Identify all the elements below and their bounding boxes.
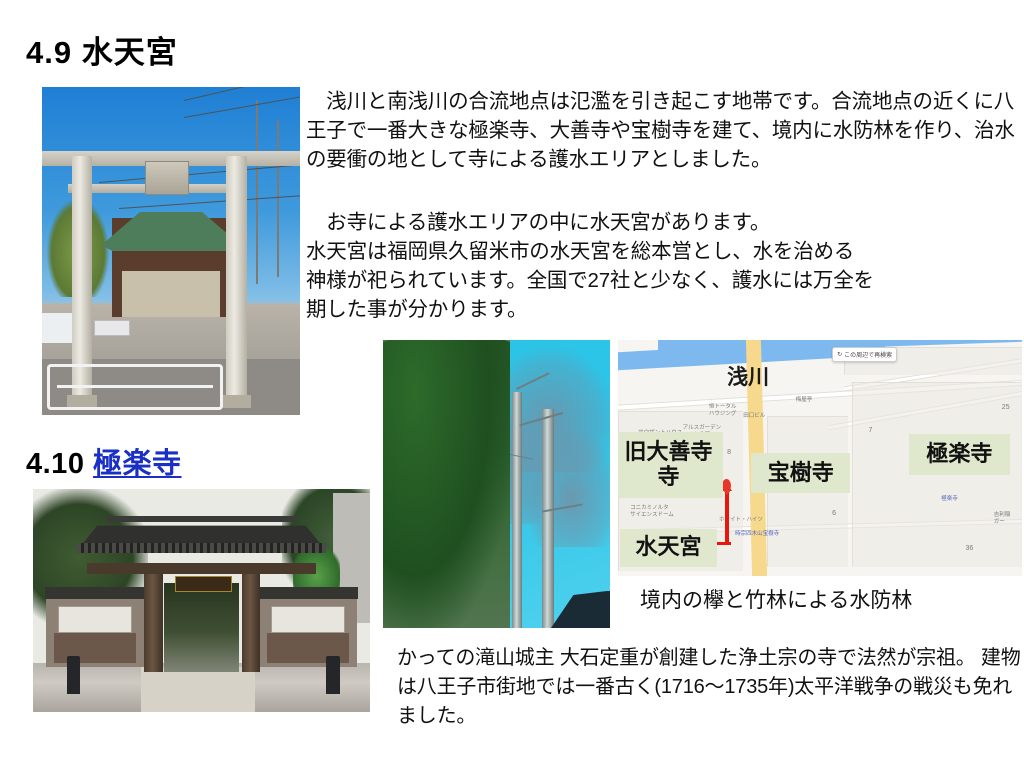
map-poi-label: 田口ビル — [743, 413, 765, 420]
wall-roof-left — [45, 587, 147, 598]
page-title-section-4-10: 4.10 極楽寺 — [26, 440, 182, 482]
wall-roof-right — [257, 587, 359, 598]
map-poi-label: 時宗四木山宝樹寺 — [735, 531, 779, 538]
map-poi-label: 6 — [832, 510, 836, 519]
research-button-label: この周辺で再検索 — [844, 350, 892, 359]
paragraph-suitengu-intro: 浅川と南浅川の合流地点は氾濫を引き起こす地帯です。合流地点の近くに八王子で一番大… — [306, 87, 1018, 174]
map-label-suitengu: 水天宮 — [620, 529, 717, 567]
bamboo-grove — [383, 340, 510, 628]
map-poi-label: 25 — [1002, 404, 1010, 413]
zelkova-trunk — [512, 392, 522, 628]
section-number: 4.10 — [26, 448, 93, 480]
gate-roof-ridge — [107, 516, 296, 523]
suitengu-torii-photo — [42, 87, 300, 415]
paragraph-gokurakuji-detail: かっての滝山城主 大石定重が創建した浄土宗の寺で法然が宗祖。 建物は八王子市街地… — [397, 644, 1022, 731]
torii-base-right — [220, 395, 251, 408]
map-building-blocks — [852, 382, 1022, 566]
refresh-icon: ↻ — [837, 351, 842, 358]
gate-wall-left — [46, 596, 144, 667]
wall-panel-left — [58, 606, 132, 633]
gate-roof-eaves — [77, 543, 326, 553]
map-label-hojuji: 宝樹寺 — [751, 453, 850, 493]
gate-pillar-left — [144, 572, 163, 672]
map-caption: 境内の欅と竹林による水防林 — [640, 584, 912, 614]
map-label-gokurakuji: 極楽寺 — [909, 434, 1010, 474]
research-area-button[interactable]: ↻ この周辺で再検索 — [832, 347, 897, 362]
chain-bollard-right — [326, 656, 339, 694]
gate-name-plaque — [175, 576, 232, 592]
map-poi-label: 吉利稲 ガー — [994, 512, 1011, 526]
zelkova-trunk — [542, 409, 554, 628]
gate-crossbeam — [87, 563, 316, 574]
zelkova-crown-icon — [524, 426, 610, 547]
pointer-arrow-vertical — [725, 491, 729, 545]
gokurakuji-link[interactable]: 極楽寺 — [93, 448, 182, 480]
river-name-label: 浅川 — [727, 361, 769, 391]
map-poi-label: 7 — [868, 427, 872, 436]
gate-opening — [164, 583, 238, 672]
map-poi-label: 恒トータル ハウジング — [709, 404, 737, 418]
map-poi-label: 梅屋亭 — [796, 397, 813, 404]
map-poi-label: コニカミノルタ サイエンスドーム — [630, 505, 674, 519]
presentation-slide: 4.9 水天宮 浅川と南浅川の合流地点は氾濫を引き起こす地帯です。合流地点の近く… — [0, 0, 1024, 768]
keyaki-bamboo-photo — [383, 340, 610, 628]
gokurakuji-gate-photo — [33, 489, 370, 712]
torii-pillar-right — [226, 156, 246, 405]
utility-pole — [256, 100, 258, 284]
stone-path — [141, 667, 256, 712]
map-poi-label: 8 — [727, 449, 731, 458]
information-sign — [94, 320, 130, 336]
white-guard-rail — [47, 364, 222, 410]
paragraph-suitengu-detail: お寺による護水エリアの中に水天宮があります。 水天宮は福岡県久留米市の水天宮を総… — [306, 208, 1018, 324]
page-title-section-4-9: 4.9 水天宮 — [26, 27, 178, 72]
torii-gaku-plaque — [145, 161, 189, 195]
location-map[interactable]: サウザントハウス 恒トータル ハウジング 田口ビル アルスガーデン コート北館 … — [618, 340, 1022, 576]
map-poi-label: 36 — [965, 545, 973, 554]
gate-wall-right — [259, 596, 357, 667]
gate-pillar-right — [242, 572, 261, 672]
map-label-kyu-daizenji: 旧大善寺 寺 — [618, 432, 723, 498]
utility-pole-2 — [277, 120, 279, 277]
shrine-front-steps — [122, 271, 220, 317]
map-poi-label: 極楽寺 — [941, 496, 958, 503]
wall-panel-right — [271, 606, 345, 633]
suitengu-map-pin[interactable] — [722, 479, 731, 491]
chain-bollard-left — [67, 656, 80, 694]
